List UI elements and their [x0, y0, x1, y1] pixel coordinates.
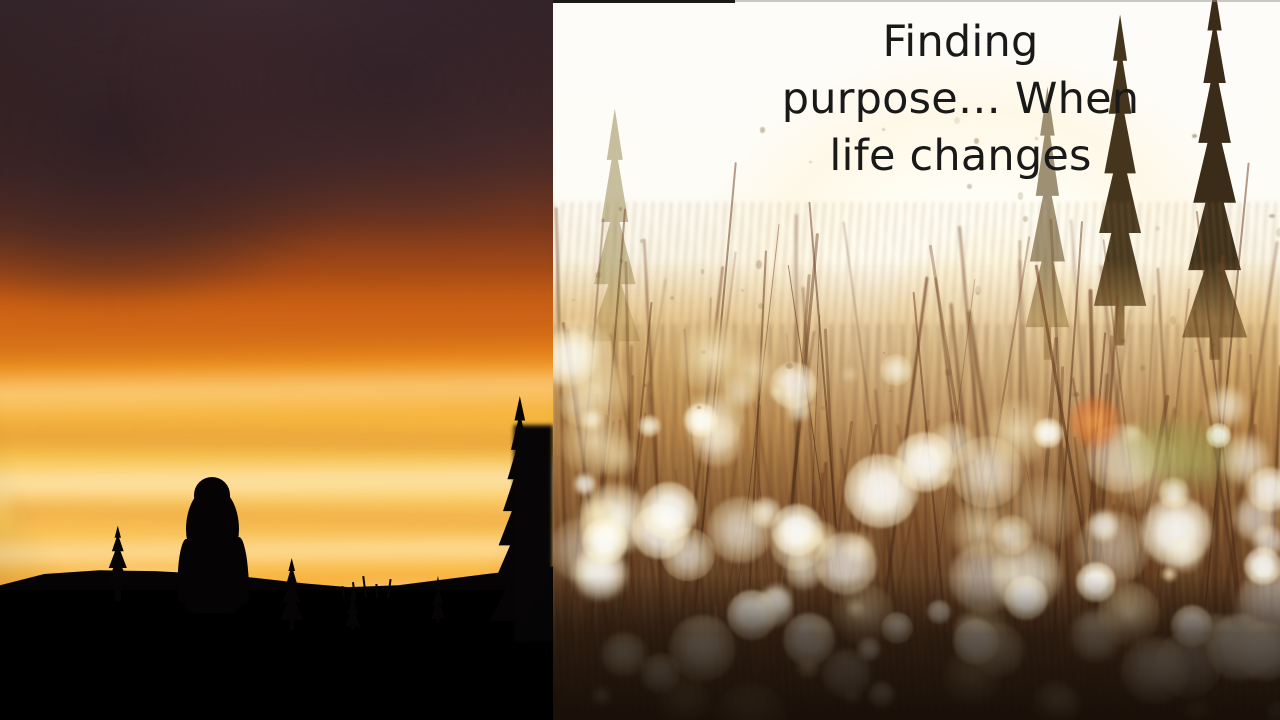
floating-seed [1155, 226, 1160, 231]
dandelion-seedhead [1088, 510, 1119, 541]
tree-mass [514, 425, 553, 641]
woman-silhouette [173, 477, 252, 610]
floating-seed [1195, 350, 1197, 352]
dandelion-seedhead [638, 415, 660, 437]
dandelion-seedhead [895, 432, 955, 492]
floating-seed [595, 272, 601, 277]
dandelion-seedhead [684, 403, 718, 437]
floating-seed [1269, 214, 1275, 218]
floating-seed [1276, 228, 1280, 237]
dark-foreground [553, 576, 1280, 720]
floating-seed [1234, 333, 1237, 335]
dandelion-seedhead [951, 436, 1023, 508]
torso [184, 528, 241, 613]
title-line-3: life changes [641, 128, 1280, 185]
floating-seed [619, 207, 622, 211]
video-frame: Finding purpose… When life changes [0, 0, 1280, 720]
dandelion-seedhead [880, 354, 912, 386]
dandelion-seedhead [727, 344, 778, 395]
left-panel-sunset-silhouette [0, 0, 553, 720]
top-border-dark [553, 0, 735, 3]
floating-seed [821, 406, 825, 411]
cloud-band [0, 363, 553, 423]
floating-seed [1140, 365, 1145, 371]
floating-seed [1018, 192, 1023, 199]
floating-seed [572, 299, 575, 301]
foreground-ground [0, 590, 553, 720]
floating-seed [640, 239, 643, 243]
cloud-band [0, 280, 553, 376]
floating-seed [701, 350, 706, 355]
floating-seed [1212, 344, 1215, 346]
top-border-light [735, 0, 1280, 2]
head [194, 477, 230, 513]
dandelion-seedhead [1166, 537, 1202, 573]
floating-seed [670, 296, 674, 300]
dandelion-seedhead [1033, 418, 1063, 448]
floating-seed [883, 352, 885, 354]
dandelion-seedhead [707, 497, 773, 563]
video-title: Finding purpose… When life changes [553, 14, 1280, 186]
dark-cloud-mass-secondary [100, 0, 553, 288]
right-panel-dandelion-field: Finding purpose… When life changes [553, 0, 1280, 720]
floating-seed [786, 363, 793, 369]
floating-seed [1173, 410, 1179, 418]
floating-seed [1217, 263, 1224, 272]
title-line-2: purpose… When [641, 71, 1280, 128]
title-line-1: Finding [641, 14, 1280, 71]
dandelion-seedhead [771, 504, 823, 556]
dandelion-seedhead [1207, 386, 1247, 426]
lens-flare-orange [1069, 396, 1121, 448]
floating-seed [756, 260, 762, 269]
floating-seed [701, 269, 704, 274]
floating-seed [1023, 216, 1028, 223]
